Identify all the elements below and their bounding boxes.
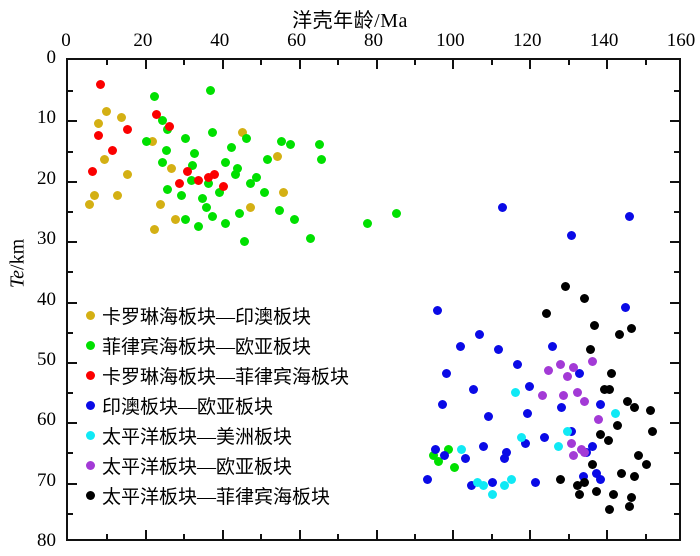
x-tick-label: 40 (210, 30, 229, 52)
data-point (630, 472, 639, 481)
data-point (162, 146, 171, 155)
data-point (150, 225, 159, 234)
axis-tick (670, 362, 679, 364)
data-point (442, 369, 451, 378)
data-point (456, 342, 465, 351)
scatter-chart-figure: 洋壳年龄/Ma Te/km 卡罗琳海板块—印澳板块菲律宾海板块—欧亚板块卡罗琳海… (0, 0, 700, 556)
data-point (563, 427, 572, 436)
data-point (246, 179, 255, 188)
data-point (625, 502, 634, 511)
data-point (240, 237, 249, 246)
data-point (290, 215, 299, 224)
data-point (438, 400, 447, 409)
data-point (627, 493, 636, 502)
axis-tick (260, 534, 262, 539)
data-point (634, 451, 643, 460)
axis-tick (674, 271, 679, 273)
data-point (580, 478, 589, 487)
data-point (646, 406, 655, 415)
y-tick-label: 60 (4, 409, 56, 431)
axis-tick (670, 483, 679, 485)
data-point (277, 137, 286, 146)
x-tick-label: 60 (287, 30, 306, 52)
data-point (235, 209, 244, 218)
data-point (246, 203, 255, 212)
data-point (450, 463, 459, 472)
data-point (625, 212, 634, 221)
axis-tick (299, 60, 301, 69)
data-point (183, 167, 192, 176)
axis-tick (674, 513, 679, 515)
data-point (177, 191, 186, 200)
data-point (286, 140, 295, 149)
data-point (469, 385, 478, 394)
data-point (117, 113, 126, 122)
legend-item-label: 菲律宾海板块—欧亚板块 (102, 332, 311, 359)
legend-item[interactable]: 卡罗琳海板块—印澳板块 (86, 300, 349, 330)
data-point (431, 445, 440, 454)
data-point (621, 303, 630, 312)
axis-tick (452, 60, 454, 69)
axis-tick (452, 530, 454, 539)
data-point (163, 185, 172, 194)
data-point (242, 134, 251, 143)
axis-tick (68, 302, 77, 304)
axis-tick (670, 181, 679, 183)
data-point (556, 360, 565, 369)
axis-tick (606, 530, 608, 539)
data-point (627, 324, 636, 333)
data-point (204, 173, 213, 182)
axis-tick (68, 211, 73, 213)
axis-tick (670, 120, 679, 122)
axis-tick (299, 530, 301, 539)
axis-tick (106, 534, 108, 539)
data-point (392, 209, 401, 218)
legend-item-label: 太平洋板块—欧亚板块 (102, 452, 292, 479)
data-point (171, 215, 180, 224)
axis-tick (183, 60, 185, 65)
axis-tick (645, 534, 647, 539)
axis-tick (68, 422, 77, 424)
legend-item-label: 卡罗琳海板块—印澳板块 (102, 302, 311, 329)
axis-tick (68, 90, 73, 92)
axis-tick (145, 530, 147, 539)
data-point (317, 155, 326, 164)
x-axis-title: 洋壳年龄/Ma (0, 4, 700, 33)
x-tick-label: 20 (133, 30, 152, 52)
legend-marker-icon (86, 311, 95, 320)
y-tick-label: 10 (4, 107, 56, 129)
data-point (611, 409, 620, 418)
data-point (596, 400, 605, 409)
data-point (531, 478, 540, 487)
data-point (573, 388, 582, 397)
data-point (556, 475, 565, 484)
y-tick-label: 20 (4, 168, 56, 190)
data-point (609, 490, 618, 499)
y-tick-label: 70 (4, 470, 56, 492)
data-point (221, 219, 230, 228)
legend-item[interactable]: 太平洋板块—欧亚板块 (86, 450, 349, 480)
data-point (423, 475, 432, 484)
axis-tick (529, 60, 531, 69)
axis-tick (68, 271, 73, 273)
axis-tick (414, 60, 416, 65)
data-point (198, 194, 207, 203)
data-point (630, 403, 639, 412)
axis-tick (645, 60, 647, 65)
data-point (190, 149, 199, 158)
data-point (605, 505, 614, 514)
axis-tick (674, 151, 679, 153)
data-point (488, 478, 497, 487)
data-point (542, 309, 551, 318)
axis-tick (68, 151, 73, 153)
data-point (440, 451, 449, 460)
legend-marker-icon (86, 341, 95, 350)
data-point (604, 436, 613, 445)
data-point (85, 200, 94, 209)
axis-tick (68, 120, 77, 122)
data-point (275, 206, 284, 215)
legend-item[interactable]: 卡罗琳海板块—菲律宾海板块 (86, 360, 349, 390)
data-point (167, 164, 176, 173)
data-point (484, 412, 493, 421)
axis-tick (222, 530, 224, 539)
data-point (88, 167, 97, 176)
axis-tick (491, 60, 493, 65)
legend-item[interactable]: 太平洋板块—美洲板块 (86, 420, 349, 450)
legend-item-label: 卡罗琳海板块—菲律宾海板块 (102, 362, 349, 389)
axis-tick (68, 392, 73, 394)
data-point (569, 451, 578, 460)
data-point (561, 282, 570, 291)
data-point (548, 342, 557, 351)
data-point (613, 421, 622, 430)
data-point (540, 433, 549, 442)
axis-tick (376, 530, 378, 539)
data-point (123, 170, 132, 179)
data-point (580, 397, 589, 406)
axis-tick (68, 332, 73, 334)
axis-tick (68, 483, 77, 485)
axis-tick (674, 332, 679, 334)
legend-item-label: 太平洋板块—美洲板块 (102, 422, 292, 449)
axis-tick (670, 241, 679, 243)
data-point (511, 388, 520, 397)
axis-tick (145, 60, 147, 69)
legend-item-label: 太平洋板块—菲律宾海板块 (102, 482, 330, 509)
data-point (433, 306, 442, 315)
data-point (94, 131, 103, 140)
data-point (206, 86, 215, 95)
data-point (607, 369, 616, 378)
data-point (596, 475, 605, 484)
data-point (648, 427, 657, 436)
data-point (152, 110, 161, 119)
data-point (494, 345, 503, 354)
data-point (605, 385, 614, 394)
y-axis-title-italic: Te (7, 270, 29, 288)
axis-tick (376, 60, 378, 69)
data-point (202, 203, 211, 212)
data-point (588, 357, 597, 366)
data-point (113, 191, 122, 200)
data-point (306, 234, 315, 243)
axis-tick (670, 302, 679, 304)
data-point (263, 155, 272, 164)
data-point (586, 345, 595, 354)
data-point (90, 191, 99, 200)
data-point (227, 143, 236, 152)
y-tick-label: 30 (4, 228, 56, 250)
axis-tick (670, 422, 679, 424)
legend-marker-icon (86, 491, 95, 500)
legend-marker-icon (86, 431, 95, 440)
axis-tick (106, 60, 108, 65)
data-point (557, 403, 566, 412)
data-point (102, 107, 111, 116)
data-point (363, 219, 372, 228)
axis-tick (606, 60, 608, 69)
data-point (523, 409, 532, 418)
data-point (165, 122, 174, 131)
data-point (150, 92, 159, 101)
legend-marker-icon (86, 461, 95, 470)
data-point (525, 382, 534, 391)
data-point (615, 330, 624, 339)
data-point (559, 391, 568, 400)
data-point (181, 134, 190, 143)
data-point (596, 430, 605, 439)
data-point (100, 155, 109, 164)
x-tick-label: 100 (436, 30, 465, 52)
data-point (108, 146, 117, 155)
axis-tick (529, 530, 531, 539)
data-point (567, 231, 576, 240)
data-point (567, 439, 576, 448)
data-point (554, 442, 563, 451)
axis-tick (68, 241, 77, 243)
axis-tick (260, 60, 262, 65)
axis-tick (674, 90, 679, 92)
data-point (488, 490, 497, 499)
data-point (279, 188, 288, 197)
data-point (475, 330, 484, 339)
legend-item[interactable]: 印澳板块—欧亚板块 (86, 390, 349, 420)
axis-tick (568, 534, 570, 539)
data-point (175, 179, 184, 188)
data-point (156, 200, 165, 209)
x-tick-label: 120 (513, 30, 542, 52)
legend-item-label: 印澳板块—欧亚板块 (102, 392, 273, 419)
axis-tick (674, 452, 679, 454)
axis-tick (183, 534, 185, 539)
axis-tick (337, 60, 339, 65)
data-point (457, 445, 466, 454)
data-point (563, 372, 572, 381)
data-point (231, 170, 240, 179)
data-point (588, 460, 597, 469)
data-point (590, 321, 599, 330)
data-point (219, 182, 228, 191)
axis-tick (674, 392, 679, 394)
data-point (544, 366, 553, 375)
data-point (94, 119, 103, 128)
data-point (594, 415, 603, 424)
data-point (575, 490, 584, 499)
x-tick-label: 160 (667, 30, 696, 52)
y-tick-label: 40 (4, 289, 56, 311)
data-point (507, 475, 516, 484)
legend-item[interactable]: 太平洋板块—菲律宾海板块 (86, 480, 349, 510)
data-point (479, 442, 488, 451)
data-point (194, 222, 203, 231)
data-point (123, 125, 132, 134)
x-tick-label: 140 (590, 30, 619, 52)
data-point (513, 360, 522, 369)
data-point (479, 481, 488, 490)
data-point (592, 487, 601, 496)
data-point (538, 391, 547, 400)
data-point (588, 442, 597, 451)
x-tick-label: 0 (61, 30, 71, 52)
legend: 卡罗琳海板块—印澳板块菲律宾海板块—欧亚板块卡罗琳海板块—菲律宾海板块印澳板块—… (86, 300, 349, 510)
data-point (181, 215, 190, 224)
y-tick-label: 0 (4, 47, 56, 69)
axis-tick (68, 513, 73, 515)
x-tick-label: 80 (364, 30, 383, 52)
data-point (208, 128, 217, 137)
data-point (642, 460, 651, 469)
y-tick-label: 50 (4, 349, 56, 371)
axis-tick (68, 452, 73, 454)
y-tick-label: 80 (4, 530, 56, 552)
data-point (208, 212, 217, 221)
data-point (502, 448, 511, 457)
legend-marker-icon (86, 371, 95, 380)
data-point (158, 158, 167, 167)
data-point (617, 469, 626, 478)
data-point (194, 176, 203, 185)
data-point (96, 80, 105, 89)
data-point (273, 152, 282, 161)
axis-tick (68, 181, 77, 183)
data-point (461, 454, 470, 463)
data-point (260, 188, 269, 197)
data-point (517, 433, 526, 442)
legend-marker-icon (86, 401, 95, 410)
axis-tick (414, 534, 416, 539)
axis-tick (337, 534, 339, 539)
legend-item[interactable]: 菲律宾海板块—欧亚板块 (86, 330, 349, 360)
axis-tick (568, 60, 570, 65)
axis-tick (222, 60, 224, 69)
axis-tick (491, 534, 493, 539)
data-point (498, 203, 507, 212)
data-point (221, 158, 230, 167)
axis-tick (68, 362, 77, 364)
data-point (580, 294, 589, 303)
axis-tick (674, 211, 679, 213)
data-point (315, 140, 324, 149)
